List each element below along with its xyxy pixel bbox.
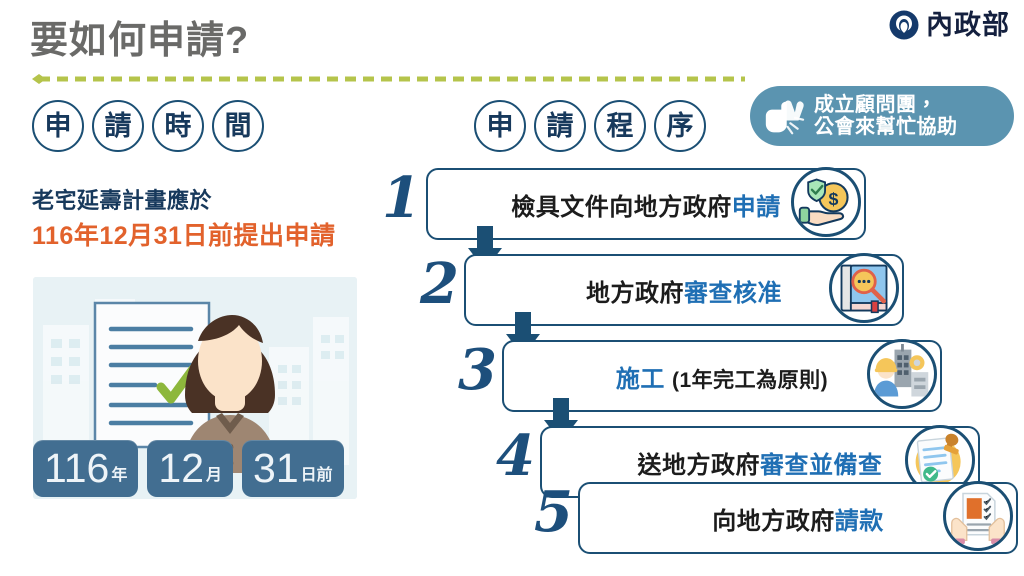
deadline-text-primary: 老宅延壽計畫應於 [32,183,212,215]
step-number: 3 [458,342,497,398]
heading-char-circle: 請 [534,100,586,152]
step-text-highlight: 審查並備查 [760,452,883,479]
step-number: 2 [420,256,459,312]
hand-holding-coin-glyph: $ [796,172,856,232]
date-chip-unit: 年 [111,468,127,484]
heading-char-circle: 時 [152,100,204,152]
ministry-logo: 內政部 [889,10,1010,40]
step-text-plain: 送地方政府 [638,452,761,479]
deadline-text-highlight: 116年12月31日前提出申請 [32,216,335,252]
hand-holding-coin-icon: $ [791,167,861,237]
hands-holding-form-glyph [948,486,1008,546]
step-text-note: (1年完工為原則) [672,369,828,392]
title-dashed-rule [30,74,745,84]
page-title: 要如何申請? [30,20,249,64]
ministry-emblem-icon [889,10,919,40]
book-magnifier-glyph [834,258,894,318]
heading-char-circle: 請 [92,100,144,152]
advisory-badge-line1: 成立顧問團， [814,94,958,116]
date-chip-number: 31 [253,440,299,496]
step-text-highlight: 請款 [835,508,884,535]
clapping-hands-icon [762,96,806,136]
step-number: 1 [382,170,421,226]
heading-char-circle: 申 [32,100,84,152]
stamped-document-glyph [910,430,970,490]
application-process-flow: 1 檢具文件向地方政府申請 $ [382,168,1022,568]
step-label: 向地方政府請款 [712,501,884,536]
step-text-plain: 地方政府 [586,280,684,307]
right-section-heading: 申 請 程 序 [474,100,706,152]
date-chip-unit: 月 [206,468,222,484]
advisory-badge-line2: 公會來幫忙協助 [814,116,958,138]
step-text-highlight: 審查核准 [684,280,782,307]
step-label: 施工 (1年完工為原則) [616,359,828,394]
ministry-logo-text: 內政部 [926,12,1010,39]
step-text-highlight: 申請 [732,194,781,221]
construction-worker-glyph [872,344,932,404]
hands-holding-form-icon [943,481,1013,551]
step-number: 4 [496,428,535,484]
advisory-badge: 成立顧問團， 公會來幫忙協助 [750,86,1014,146]
date-chip-month: 12 月 [147,440,233,497]
date-chip-number: 12 [158,440,204,496]
advisory-badge-text: 成立顧問團， 公會來幫忙協助 [814,94,958,139]
heading-char-circle: 程 [594,100,646,152]
step-label: 檢具文件向地方政府申請 [511,187,781,222]
heading-char-circle: 申 [474,100,526,152]
book-magnifier-icon [829,253,899,323]
step-text-plain: 向地方政府 [712,508,835,535]
date-chip-year: 116 年 [33,440,138,497]
construction-worker-icon [867,339,937,409]
step-label: 地方政府審查核准 [586,273,782,308]
step-text-highlight: 施工 [616,366,665,393]
date-chip-unit: 日前 [301,468,333,484]
heading-char-circle: 間 [212,100,264,152]
date-chip-day: 31 日前 [242,440,344,497]
left-section-heading: 申 請 時 間 [32,100,264,152]
svg-text:$: $ [829,189,839,209]
step-label: 送地方政府審查並備查 [638,445,883,480]
step-text-plain: 檢具文件向地方政府 [511,194,732,221]
infographic-page: 內政部 要如何申請? 申 請 時 間 老宅延壽計畫應於 116年12月31日前提… [0,0,1024,576]
step-number: 5 [534,484,573,540]
heading-char-circle: 序 [654,100,706,152]
deadline-date-chips: 116 年 12 月 31 日前 [33,440,344,497]
date-chip-number: 116 [44,440,109,496]
